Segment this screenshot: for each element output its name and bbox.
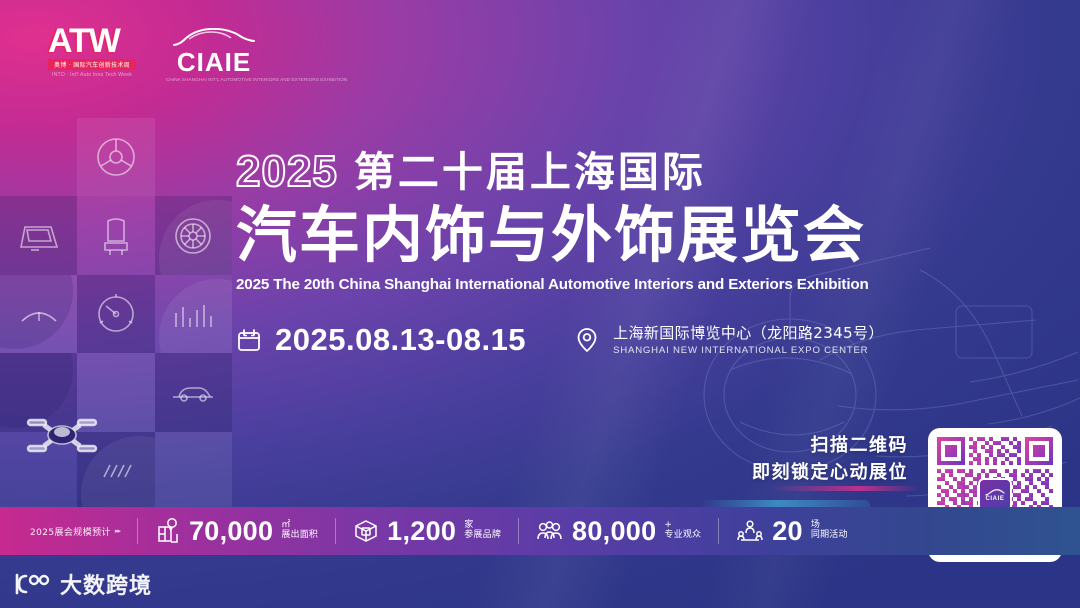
- collage-cell-chart-bars: [155, 275, 232, 353]
- collage-cell-dashboard: [0, 275, 77, 353]
- event-edition: 第二十届上海国际: [354, 152, 706, 193]
- stats-label-arrows: ▸▸: [115, 527, 120, 535]
- calendar-icon: [236, 327, 262, 353]
- cta-line-2: 即刻锁定心动展位: [752, 459, 908, 486]
- qr-car-silhouette-icon: [985, 489, 1005, 496]
- atw-chinese-text: 奥博 · 国际汽车创新技术周: [48, 59, 136, 70]
- stats-label: 2025展会规模预计 ▸▸: [30, 525, 120, 538]
- event-title-en: 2025 The 20th China Shanghai Internation…: [236, 276, 896, 293]
- stat-item: 80,000 + 专业观众: [536, 518, 701, 545]
- collage-cell-steering-wheel: [77, 118, 154, 196]
- ciaie-logo[interactable]: CIAIE CHINA SHANGHAI INT'L AUTOMOTIVE IN…: [166, 26, 262, 82]
- collage-cell-car-door: [0, 196, 77, 274]
- dashboard-icon: [19, 299, 59, 329]
- stat-desc: 专业观众: [664, 531, 701, 541]
- event-date: 2025.08.13-08.15: [275, 324, 526, 355]
- car-seat-icon: [99, 215, 133, 257]
- stat-desc: 展出面积: [281, 531, 318, 541]
- event-venue-item: 上海新国际博览中心（龙阳路2345号） SHANGHAI NEW INTERNA…: [574, 324, 884, 356]
- promo-banner: ATW 奥博 · 国际汽车创新技术周 INTO · Int'l Auto Inn…: [0, 0, 1080, 608]
- stat-meta: + 专业观众: [664, 521, 701, 540]
- logo-group: ATW 奥博 · 国际汽车创新技术周 INTO · Int'l Auto Inn…: [48, 26, 262, 82]
- stat-value: 20: [772, 518, 803, 545]
- collage-cell-blank-b: [155, 432, 232, 510]
- headline-line-1: 2025 第二十届上海国际: [236, 150, 896, 194]
- stat-meta: 场 同期活动: [811, 521, 848, 540]
- collage-cell-car-side: [155, 353, 232, 431]
- qr-logo-text: CIAIE: [985, 496, 1004, 502]
- event-title-cn: 汽车内饰与外饰展览会: [236, 204, 896, 269]
- headline-block: 2025 第二十届上海国际 汽车内饰与外饰展览会 2025 The 20th C…: [236, 150, 896, 293]
- drone-icon: [14, 406, 110, 464]
- car-silhouette-icon: [171, 28, 257, 48]
- watermark: 大数跨境: [12, 568, 152, 600]
- booth-box-icon: [353, 518, 379, 544]
- stat-value: 80,000: [572, 518, 656, 545]
- qr-call-to-action: 扫描二维码 即刻锁定心动展位: [752, 432, 908, 486]
- floorplan-icon: [155, 518, 181, 544]
- collage-cell-wheel-rim: [155, 196, 232, 274]
- stats-label-text: 2025展会规模预计: [30, 525, 111, 538]
- stats-divider: [518, 518, 519, 544]
- collage-cell-car-seat: [77, 196, 154, 274]
- decorative-icon-collage: [0, 118, 232, 510]
- stat-desc: 同期活动: [811, 531, 848, 541]
- stat-value: 1,200: [387, 518, 456, 545]
- visitors-icon: [536, 519, 564, 543]
- event-year: 2025: [236, 150, 338, 194]
- speaker-icon: [736, 519, 764, 543]
- atw-english-text: INTO · Int'l Auto Inno Tech Week: [48, 72, 136, 78]
- steering-wheel-icon: [93, 134, 139, 180]
- venue-name-en: SHANGHAI NEW INTERNATIONAL EXPO CENTER: [613, 345, 884, 356]
- stats-divider: [335, 518, 336, 544]
- stat-item: 70,000 ㎡ 展出面积: [155, 518, 318, 545]
- event-date-item: 2025.08.13-08.15: [236, 324, 526, 355]
- speedometer-icon: [93, 291, 139, 337]
- stat-item: 1,200 家 参展品牌: [353, 518, 501, 545]
- stats-divider: [718, 518, 719, 544]
- stat-item: 20 场 同期活动: [736, 518, 847, 545]
- dashu-kuajing-logo-icon: [12, 572, 52, 596]
- atw-wordmark: ATW: [48, 26, 136, 57]
- stats-divider: [137, 518, 138, 544]
- stat-meta: ㎡ 展出面积: [281, 521, 318, 540]
- wheel-rim-icon: [172, 215, 214, 257]
- car-side-icon: [170, 380, 216, 404]
- stat-desc: 参展品牌: [464, 531, 501, 541]
- chart-bars-icon: [171, 299, 215, 329]
- car-door-icon: [17, 217, 61, 255]
- collage-cell-speedometer: [77, 275, 154, 353]
- stat-meta: 家 参展品牌: [464, 521, 501, 540]
- venue-name-cn: 上海新国际博览中心（龙阳路2345号）: [613, 324, 884, 343]
- watermark-text: 大数跨境: [60, 568, 152, 600]
- stats-bar: 2025展会规模预计 ▸▸ 70,000 ㎡ 展出面积 1,200: [0, 507, 1080, 555]
- atw-logo[interactable]: ATW 奥博 · 国际汽车创新技术周 INTO · Int'l Auto Inn…: [48, 26, 136, 78]
- location-pin-icon: [574, 326, 600, 354]
- cta-line-1: 扫描二维码: [752, 432, 908, 459]
- road-streak-magenta: [770, 486, 920, 491]
- event-info-row: 2025.08.13-08.15 上海新国际博览中心（龙阳路2345号） SHA…: [236, 324, 884, 356]
- ciaie-english-text: CHINA SHANGHAI INT'L AUTOMOTIVE INTERIOR…: [166, 77, 262, 82]
- stat-value: 70,000: [189, 518, 273, 545]
- ciaie-wordmark: CIAIE: [166, 49, 262, 75]
